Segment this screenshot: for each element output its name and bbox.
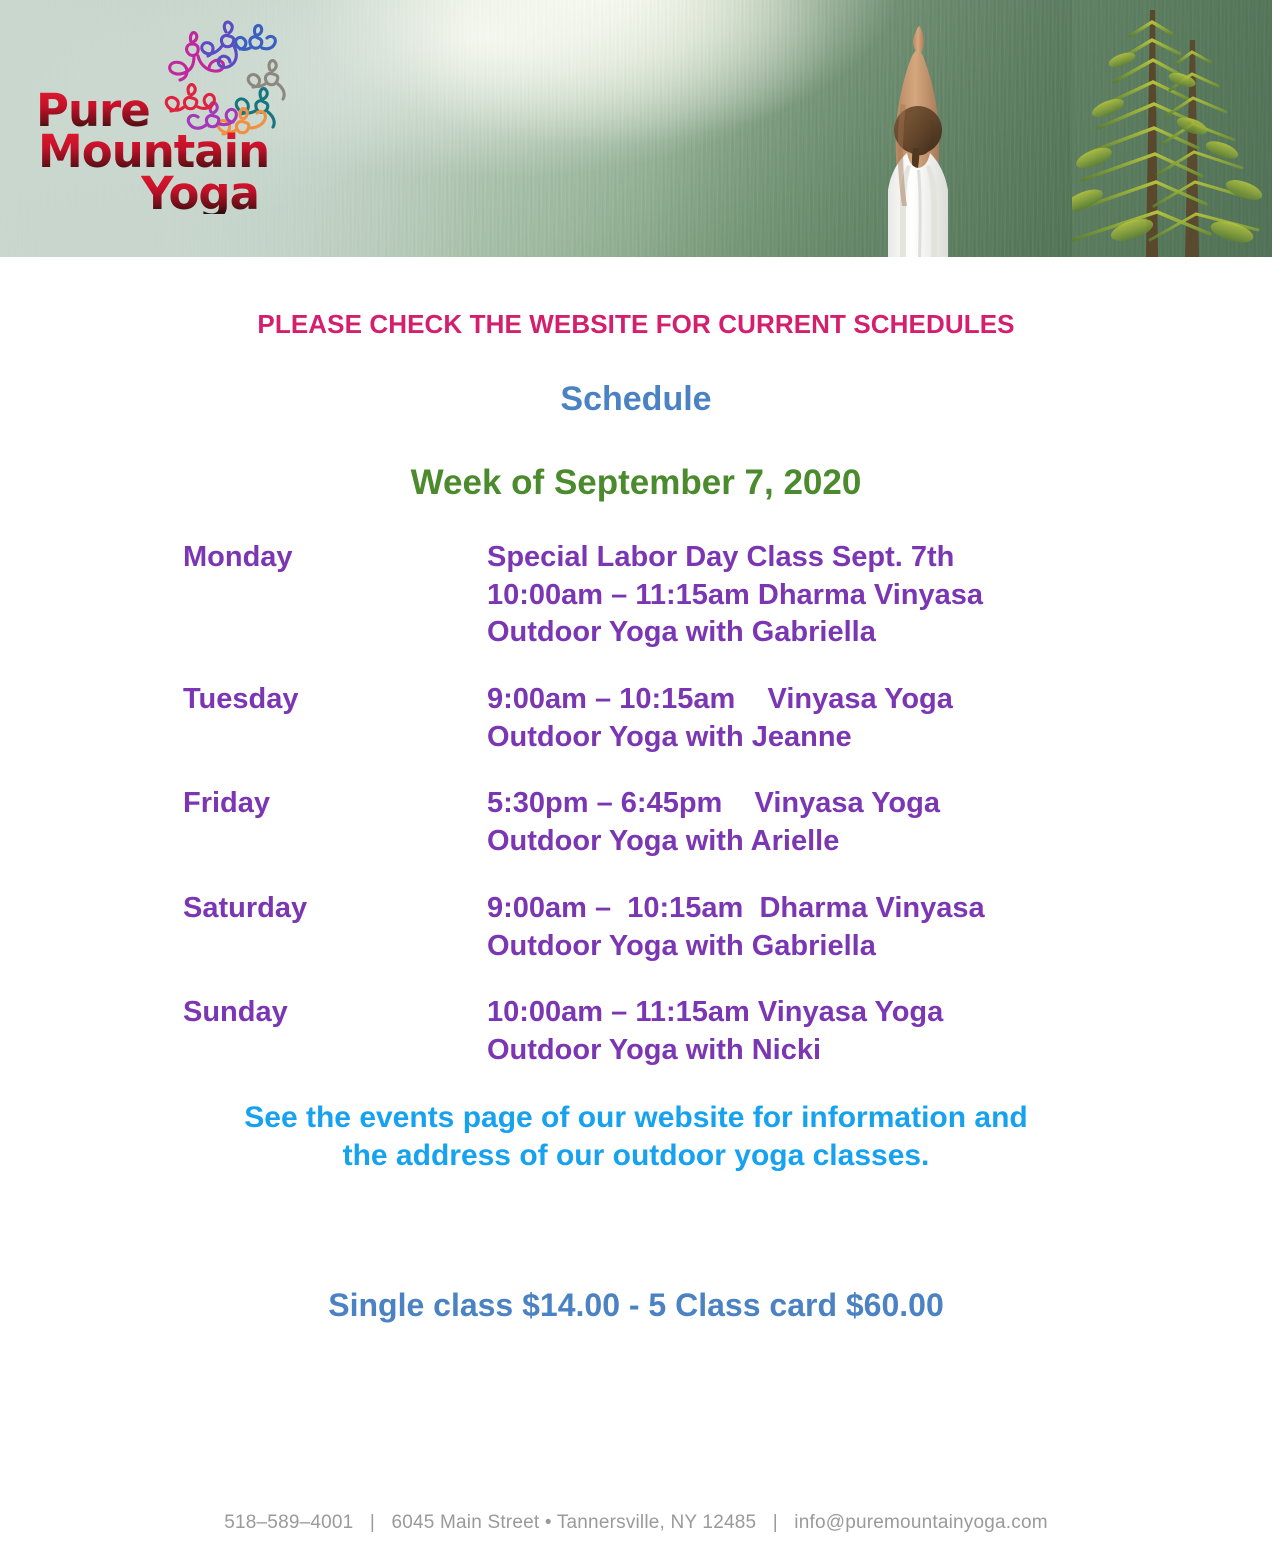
schedule-class-details: 10:00am – 11:15am Vinyasa Yoga Outdoor Y…	[487, 994, 943, 1069]
class-line: 10:00am – 11:15am Dharma Vinyasa	[487, 577, 983, 615]
class-line: Outdoor Yoga with Gabriella	[487, 614, 983, 652]
schedule-day-label: Tuesday	[183, 681, 487, 718]
schedule-class-details: 9:00am – 10:15am Vinyasa Yoga Outdoor Yo…	[487, 681, 953, 756]
schedule-day-label: Friday	[183, 785, 487, 822]
brand-logo[interactable]: Pure Mountain Yoga	[36, 18, 316, 233]
schedule-row: Saturday 9:00am – 10:15am Dharma Vinyasa…	[183, 890, 1272, 965]
logo-wordmark: Pure Mountain Yoga	[36, 90, 316, 214]
footer-phone[interactable]: 518–589–4001	[224, 1512, 353, 1533]
schedule-class-details: 5:30pm – 6:45pm Vinyasa Yoga Outdoor Yog…	[487, 785, 940, 860]
footer-separator-2: |	[756, 1512, 794, 1533]
class-line: Outdoor Yoga with Arielle	[487, 823, 940, 861]
class-line: 9:00am – 10:15am Vinyasa Yoga	[487, 681, 953, 719]
footer-separator-1: |	[353, 1512, 391, 1533]
class-line: Special Labor Day Class Sept. 7th	[487, 539, 983, 577]
events-note-line-2: the address of our outdoor yoga classes.	[185, 1137, 1087, 1175]
schedule-row: Friday 5:30pm – 6:45pm Vinyasa Yoga Outd…	[183, 785, 1272, 860]
schedule-day-label: Sunday	[183, 994, 487, 1031]
schedule-page-content: PLEASE CHECK THE WEBSITE FOR CURRENT SCH…	[0, 309, 1272, 1324]
footer-address: 6045 Main Street • Tannersville, NY 1248…	[391, 1512, 756, 1533]
class-line: Outdoor Yoga with Gabriella	[487, 928, 985, 966]
schedule-row: Sunday 10:00am – 11:15am Vinyasa Yoga Ou…	[183, 994, 1272, 1069]
events-page-note: See the events page of our website for i…	[0, 1099, 1272, 1176]
conifer-trees	[1072, 0, 1272, 257]
week-heading: Week of September 7, 2020	[0, 463, 1272, 503]
class-line: 9:00am – 10:15am Dharma Vinyasa	[487, 890, 985, 928]
footer-contact-bar: 518–589–4001 | 6045 Main Street • Tanner…	[0, 1512, 1272, 1534]
logo-line-yoga: Yoga	[141, 173, 316, 214]
footer-email[interactable]: info@puremountainyoga.com	[794, 1512, 1047, 1533]
page-title: Schedule	[0, 380, 1272, 419]
schedule-list: Monday Special Labor Day Class Sept. 7th…	[0, 539, 1272, 1070]
schedule-class-details: 9:00am – 10:15am Dharma Vinyasa Outdoor …	[487, 890, 985, 965]
schedule-row: Tuesday 9:00am – 10:15am Vinyasa Yoga Ou…	[183, 681, 1272, 756]
class-line: Outdoor Yoga with Jeanne	[487, 719, 953, 757]
class-line: Outdoor Yoga with Nicki	[487, 1032, 943, 1070]
class-line: 10:00am – 11:15am Vinyasa Yoga	[487, 994, 943, 1032]
schedule-day-label: Saturday	[183, 890, 487, 927]
schedule-row: Monday Special Labor Day Class Sept. 7th…	[183, 539, 1272, 652]
schedule-day-label: Monday	[183, 539, 487, 576]
class-line: 5:30pm – 6:45pm Vinyasa Yoga	[487, 785, 940, 823]
website-notice: PLEASE CHECK THE WEBSITE FOR CURRENT SCH…	[0, 309, 1272, 340]
yoga-woman-figure	[855, 20, 985, 257]
events-note-line-1: See the events page of our website for i…	[185, 1099, 1087, 1137]
schedule-class-details: Special Labor Day Class Sept. 7th 10:00a…	[487, 539, 983, 652]
header-banner: Pure Mountain Yoga	[0, 0, 1272, 257]
pricing-line: Single class $14.00 - 5 Class card $60.0…	[0, 1287, 1272, 1324]
